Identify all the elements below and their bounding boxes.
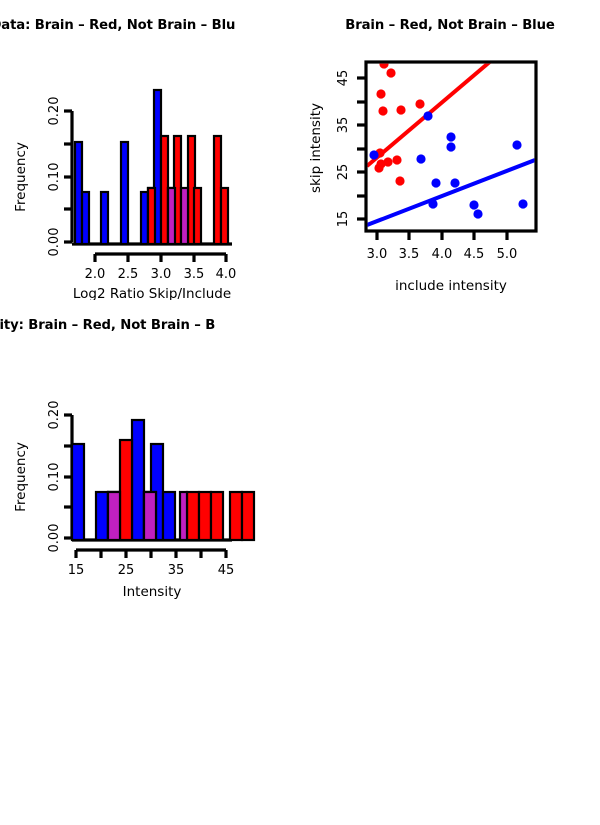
scatter-x-axis-label: include intensity [395,278,507,294]
ratio-y-axis-label: Frequency [13,142,29,212]
intensity-y-tick-labels: 0.00 0.10 0.20 [47,401,62,553]
svg-text:4.0: 4.0 [216,267,237,282]
svg-text:0.00: 0.00 [47,228,62,257]
ratio-x-tick-labels: 2.0 2.5 3.0 3.5 4.0 [85,267,237,282]
svg-text:25: 25 [118,563,135,578]
svg-text:25: 25 [336,164,351,181]
svg-text:2.0: 2.0 [85,267,106,282]
intensity-x-tick-labels: 15 25 35 45 [68,563,235,578]
figure-canvas: RatioData: Brain – Red, Not Brain – Blu … [0,0,600,600]
svg-text:4.0: 4.0 [432,247,453,262]
svg-text:15: 15 [68,563,85,578]
svg-text:0.10: 0.10 [47,463,62,492]
svg-text:3.5: 3.5 [184,267,205,282]
svg-text:0.10: 0.10 [47,163,62,192]
svg-text:0.00: 0.00 [47,524,62,553]
intensity-histogram-title: ne Itensity: Brain – Red, Not Brain – B [0,318,300,333]
svg-text:0.20: 0.20 [47,97,62,126]
svg-text:35: 35 [336,117,351,134]
panel-annotation: G6836761@J909312@j_ altTxStart 9630058J2… [300,300,600,600]
ratio-histogram-title: RatioData: Brain – Red, Not Brain – Blu [0,18,312,33]
scatter-y-axis-label: skip intensity [308,103,324,193]
ratio-y-tick-labels: 0.00 0.10 0.20 [47,97,62,257]
intensity-histogram-svg: 0.00 0.10 0.20 Frequency 15 25 35 [0,300,300,600]
panel-intensity-scatter: Brain – Red, Not Brain – Blue 15 25 35 4… [300,0,600,300]
svg-text:3.0: 3.0 [367,247,388,262]
intensity-histogram-bars [72,420,254,540]
ratio-histogram-svg: 0.00 0.10 0.20 Frequency 2.0 2.5 3.0 [0,0,300,300]
svg-text:0.20: 0.20 [47,401,62,430]
svg-text:2.5: 2.5 [118,267,139,282]
svg-text:45: 45 [336,70,351,87]
scatter-x-tick-labels: 3.0 3.5 4.0 4.5 5.0 [367,247,518,262]
intensity-y-axis-label: Frequency [13,442,29,512]
ratio-histogram-bars [75,90,228,244]
svg-text:4.5: 4.5 [464,247,485,262]
svg-text:3.5: 3.5 [399,247,420,262]
scatter-title: Brain – Red, Not Brain – Blue [300,18,600,33]
svg-text:35: 35 [168,563,185,578]
scatter-data-region [367,59,535,225]
panel-ratio-histogram: RatioData: Brain – Red, Not Brain – Blu … [0,0,300,300]
ratio-x-axis-label: Log2 Ratio Skip/Include [73,286,231,300]
intensity-x-axis-label: Intensity [123,584,182,600]
panel-intensity-histogram: ne Itensity: Brain – Red, Not Brain – B … [0,300,300,600]
svg-text:5.0: 5.0 [497,247,518,262]
svg-text:3.0: 3.0 [151,267,172,282]
scatter-y-tick-labels: 15 25 35 45 [336,70,351,228]
blue-data-points [369,111,527,218]
intensity-scatter-svg: 15 25 35 45 skip intensity 3.0 3.5 4.0 4… [300,0,600,300]
svg-text:15: 15 [336,211,351,228]
svg-text:45: 45 [218,563,235,578]
blue-regression-line [367,160,535,225]
